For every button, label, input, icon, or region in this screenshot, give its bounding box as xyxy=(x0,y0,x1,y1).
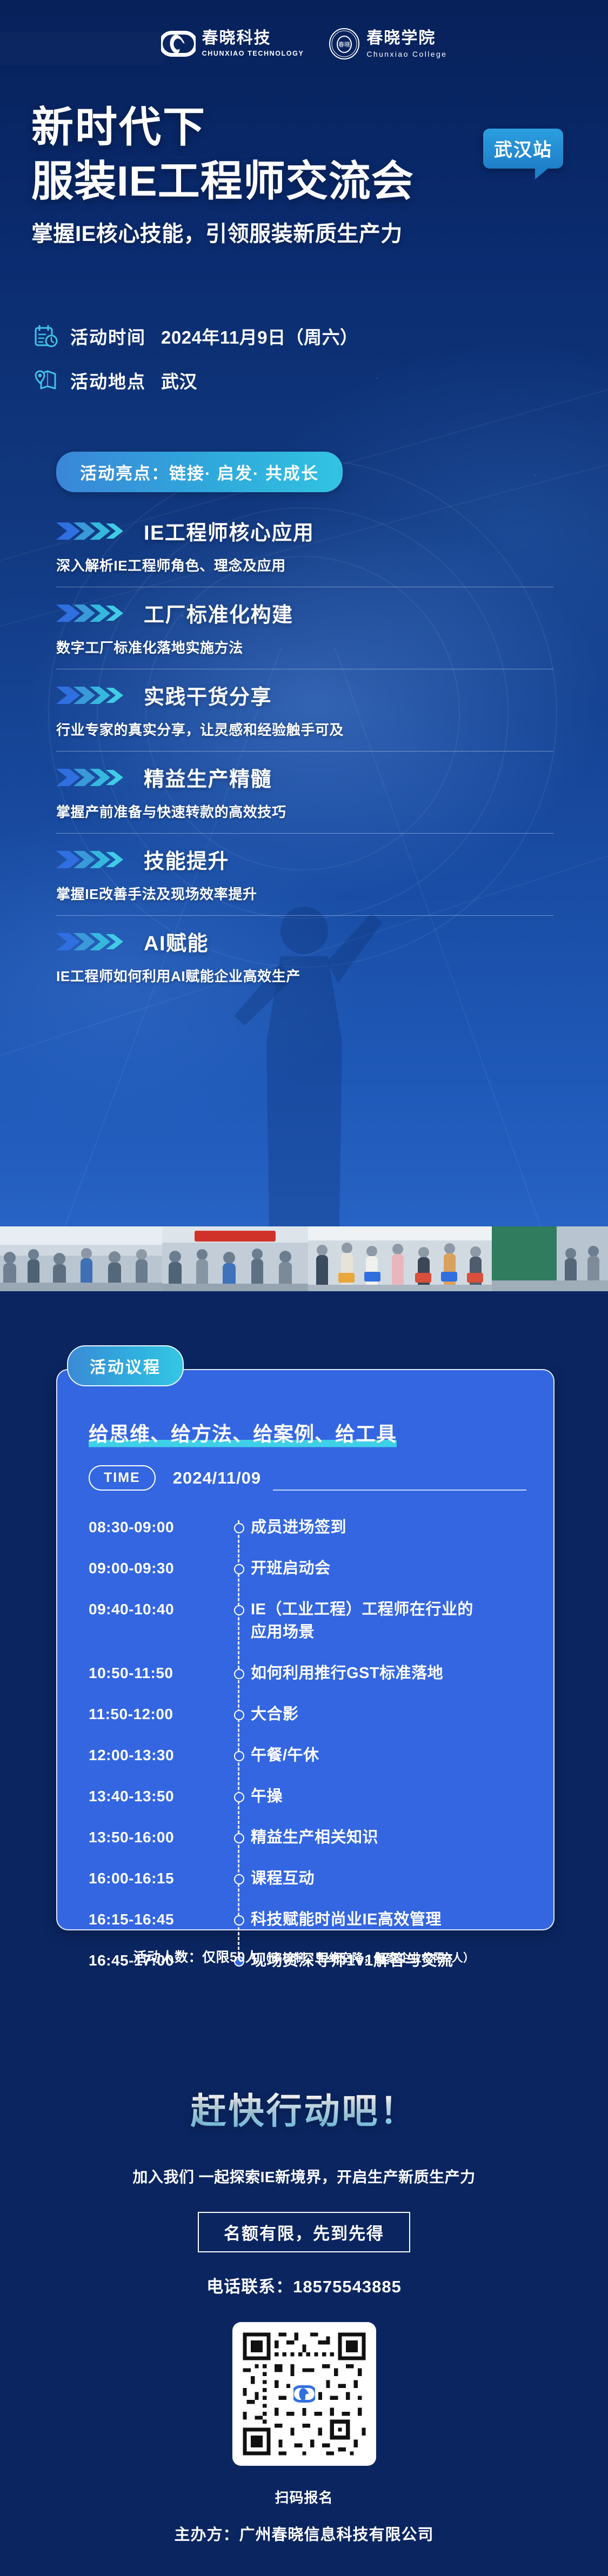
timeline-dot-icon xyxy=(227,1785,251,1808)
highlight-item: AI赋能 IE工程师如何利用AI赋能企业高效生产 xyxy=(56,927,553,997)
chevron-arrows-icon xyxy=(56,685,131,706)
limited-seats-box: 名额有限，先到先得 xyxy=(198,2212,410,2252)
agenda-time: 11:50-12:00 xyxy=(89,1703,227,1726)
cta-title: 赶快行动吧！ xyxy=(0,2082,608,2134)
highlight-desc: IE工程师如何利用AI赋能企业高效生产 xyxy=(56,965,553,985)
agenda-row: 16:00-16:15 课程互动 xyxy=(89,1867,526,1890)
chunxiao-infinity-mark-icon xyxy=(161,30,196,58)
agenda-topic: 如何利用推行GST标准落地 xyxy=(251,1662,526,1685)
logo-cn-name: 春晓科技 xyxy=(202,30,304,46)
qr-center-logo xyxy=(290,2380,318,2408)
event-photo xyxy=(492,1226,608,1291)
calendar-clock-icon xyxy=(34,324,58,348)
highlight-desc: 掌握产前准备与快速转款的高效技巧 xyxy=(56,801,553,821)
highlight-item: 精益生产精髓 掌握产前准备与快速转款的高效技巧 xyxy=(56,762,553,834)
highlight-desc: 数字工厂标准化落地实施方法 xyxy=(56,637,553,657)
agenda-section: 给思维、给方法、给案例、给工具 TIME 2024/11/09 08:30-09… xyxy=(0,1291,608,1972)
photo-classroom xyxy=(492,1226,608,1291)
timeline-dot-icon xyxy=(227,1516,251,1539)
meta-value-time: 2024年11月9日（周六） xyxy=(161,323,358,349)
chevron-arrows-icon xyxy=(56,602,131,624)
agenda-row: 08:30-09:00 成员进场签到 xyxy=(89,1516,526,1539)
logo-chunxiao-college: 春晓 春晓学院 Chunxiao College xyxy=(329,28,447,59)
agenda-row: 09:40-10:40 IE（工业工程）工程师在行业的应用场景 xyxy=(89,1598,526,1643)
meta-label-location: 活动地点 xyxy=(70,367,146,393)
agenda-row: 10:50-11:50 如何利用推行GST标准落地 xyxy=(89,1662,526,1685)
agenda-time: 08:30-09:00 xyxy=(89,1516,227,1539)
highlight-item: 工厂标准化构建 数字工厂标准化落地实施方法 xyxy=(56,598,553,669)
agenda-time: 10:50-11:50 xyxy=(89,1662,227,1685)
agenda-date-value: 2024/11/09 xyxy=(173,1468,261,1488)
logo-cn-name: 春晓学院 xyxy=(366,30,447,46)
agenda-topic: 午操 xyxy=(251,1785,526,1808)
agenda-row: 11:50-12:00 大合影 xyxy=(89,1703,526,1726)
chevron-arrows-icon xyxy=(56,767,131,788)
time-rule xyxy=(273,1490,526,1491)
agenda-row: 09:00-09:30 开班启动会 xyxy=(89,1557,526,1580)
chunxiao-infinity-mark-icon xyxy=(293,2385,315,2403)
qr-caption: 扫码报名 xyxy=(0,2487,608,2507)
timeline-dot-icon xyxy=(227,1703,251,1726)
agenda-pill: 活动议程 xyxy=(67,1345,184,1386)
highlight-desc: 深入解析IE工程师角色、理念及应用 xyxy=(56,555,553,575)
agenda-topic: 大合影 xyxy=(251,1703,526,1726)
timeline-rail xyxy=(238,1520,239,1964)
highlight-item: 技能提升 掌握IE改善手法及现场效率提升 xyxy=(56,844,553,916)
agenda-time: 13:40-13:50 xyxy=(89,1785,227,1808)
agenda-time: 09:00-09:30 xyxy=(89,1557,227,1580)
event-photo xyxy=(308,1226,492,1291)
photo-group-cheering xyxy=(308,1226,492,1291)
agenda-topic: 开班启动会 xyxy=(251,1557,526,1580)
agenda-topic: 精益生产相关知识 xyxy=(251,1826,526,1849)
agenda-row: 13:50-16:00 精益生产相关知识 xyxy=(89,1826,526,1849)
map-pin-icon xyxy=(34,368,58,393)
time-label-pill: TIME xyxy=(89,1465,156,1491)
highlights-pill: 活动亮点：链接· 启发· 共成长 xyxy=(56,452,343,492)
agenda-time-row: TIME 2024/11/09 xyxy=(89,1465,526,1491)
logo-en-name: Chunxiao College xyxy=(366,50,447,58)
highlight-title: 精益生产精髓 xyxy=(144,762,272,792)
hero-section: 春晓科技 CHUNXIAO TECHNOLOGY 春晓 春晓学院 Chunxia… xyxy=(0,0,608,1226)
svg-text:春晓: 春晓 xyxy=(338,41,350,48)
agenda-topic: 成员进场签到 xyxy=(251,1516,526,1539)
cta-section: 赶快行动吧！ 加入我们 一起探索IE新境界，开启生产新质生产力 名额有限，先到先… xyxy=(0,2022,608,2576)
agenda-time: 13:50-16:00 xyxy=(89,1826,227,1849)
agenda-time: 12:00-13:30 xyxy=(89,1744,227,1767)
highlight-item: 实践干货分享 行业专家的真实分享，让灵感和经验触手可及 xyxy=(56,680,553,752)
hero-subtitle: 掌握IE核心技能，引领服装新质生产力 xyxy=(31,216,577,247)
meta-label-time: 活动时间 xyxy=(70,323,146,349)
cta-subtitle: 加入我们 一起探索IE新境界，开启生产新质生产力 xyxy=(0,2165,608,2187)
timeline-dot-icon xyxy=(227,1598,251,1621)
event-poster: 春晓科技 CHUNXIAO TECHNOLOGY 春晓 春晓学院 Chunxia… xyxy=(0,0,608,2576)
timeline-dot-icon xyxy=(227,1867,251,1890)
agenda-row: 12:00-13:30 午餐/午休 xyxy=(89,1744,526,1767)
organizer-line: 主办方：广州春晓信息科技有限公司 xyxy=(0,2522,608,2545)
agenda-topic: 午餐/午休 xyxy=(251,1744,526,1767)
chevron-arrows-icon xyxy=(56,520,131,542)
highlight-item: IE工程师核心应用 深入解析IE工程师角色、理念及应用 xyxy=(56,516,553,587)
agenda-time: 09:40-10:40 xyxy=(89,1598,227,1621)
event-photo-strip xyxy=(0,1226,608,1291)
logo-chunxiao-technology: 春晓科技 CHUNXIAO TECHNOLOGY xyxy=(161,30,304,58)
agenda-topic: 科技赋能时尚业IE高效管理 xyxy=(251,1908,526,1931)
photo-crowd-seated xyxy=(0,1226,162,1291)
agenda-schedule: 08:30-09:00 成员进场签到 09:00-09:30 开班启动会 09:… xyxy=(89,1516,526,1972)
highlight-title: AI赋能 xyxy=(144,927,209,956)
capacity-detail: （审核制，拒绝空降，每家企业仅限2人） xyxy=(259,1952,475,1964)
chevron-arrows-icon xyxy=(56,849,131,870)
timeline-dot-icon xyxy=(227,1908,251,1931)
highlight-title: IE工程师核心应用 xyxy=(144,516,314,546)
meta-value-location: 武汉 xyxy=(161,367,197,393)
chunxiao-college-seal-icon: 春晓 xyxy=(329,28,360,59)
highlight-title: 技能提升 xyxy=(144,844,229,874)
city-badge: 武汉站 xyxy=(483,129,563,169)
event-photo xyxy=(0,1226,162,1291)
timeline-dot-icon xyxy=(227,1662,251,1685)
agenda-topic: 课程互动 xyxy=(251,1867,526,1890)
agenda-time: 16:15-16:45 xyxy=(89,1908,227,1931)
timeline-dot-icon xyxy=(227,1826,251,1849)
meta-row-location: 活动地点 武汉 xyxy=(34,367,358,393)
agenda-topic: IE（工业工程）工程师在行业的应用场景 xyxy=(251,1598,489,1643)
event-photo xyxy=(162,1226,308,1291)
highlight-desc: 掌握IE改善手法及现场效率提升 xyxy=(56,883,553,903)
highlight-title: 工厂标准化构建 xyxy=(144,598,293,628)
highlight-desc: 行业专家的真实分享，让灵感和经验触手可及 xyxy=(56,719,553,739)
highlights-list: IE工程师核心应用 深入解析IE工程师角色、理念及应用 工厂标准化构建 数字工厂… xyxy=(56,516,553,1008)
event-meta: 活动时间 2024年11月9日（周六） 活动地点 武汉 xyxy=(34,323,358,412)
meta-row-time: 活动时间 2024年11月9日（周六） xyxy=(34,323,358,349)
capacity-note: 活动人数：仅限50人（审核制，拒绝空降，每家企业仅限2人） xyxy=(0,1947,608,1966)
timeline-dot-icon xyxy=(227,1744,251,1767)
qr-code[interactable] xyxy=(232,2322,376,2466)
agenda-subtitle: 给思维、给方法、给案例、给工具 xyxy=(89,1418,397,1448)
highlight-title: 实践干货分享 xyxy=(144,680,272,710)
agenda-row: 13:40-13:50 午操 xyxy=(89,1785,526,1808)
timeline-dot-icon xyxy=(227,1557,251,1580)
agenda-time: 16:00-16:15 xyxy=(89,1867,227,1890)
photo-attendees-banner xyxy=(162,1226,308,1291)
headline-block: 新时代下 服装IE工程师交流会 掌握IE核心技能，引领服装新质生产力 武汉站 xyxy=(31,106,577,247)
brand-logo-bar: 春晓科技 CHUNXIAO TECHNOLOGY 春晓 春晓学院 Chunxia… xyxy=(0,28,608,59)
chevron-arrows-icon xyxy=(56,931,131,952)
contact-phone: 电话联系：18575543885 xyxy=(0,2273,608,2297)
agenda-row: 16:15-16:45 科技赋能时尚业IE高效管理 xyxy=(89,1908,526,1931)
agenda-card: 给思维、给方法、给案例、给工具 TIME 2024/11/09 08:30-09… xyxy=(56,1369,554,1930)
capacity-main: 活动人数：仅限50人 xyxy=(133,1950,259,1965)
logo-en-name: CHUNXIAO TECHNOLOGY xyxy=(202,50,304,57)
